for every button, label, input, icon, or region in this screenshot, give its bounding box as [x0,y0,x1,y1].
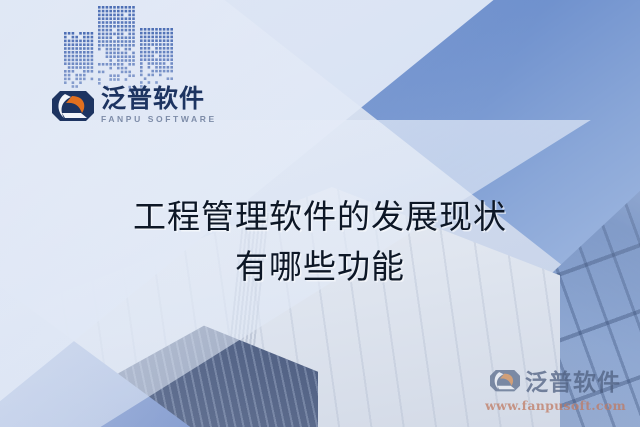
watermark-url: www.fanpusoft.com [485,398,626,413]
brand-name-cn: 泛普软件 [101,86,217,111]
headline-line-1: 工程管理软件的发展现状 [0,192,640,242]
fanpu-logo-mark-icon [490,367,520,393]
headline-line-2: 有哪些功能 [0,242,640,292]
pixel-skyline-icon [62,4,174,92]
watermark-name-cn: 泛普软件 [525,363,621,397]
watermark-logo-row: 泛普软件 [490,363,621,397]
fanpu-logo-mark-icon [52,87,94,123]
headline: 工程管理软件的发展现状 有哪些功能 [0,192,640,292]
brand-lockup: 泛普软件 FANPU SOFTWARE [52,86,217,124]
watermark: 泛普软件 www.fanpusoft.com [485,363,626,413]
brand-name-en: FANPU SOFTWARE [101,115,217,124]
promo-banner: 泛普软件 FANPU SOFTWARE 工程管理软件的发展现状 有哪些功能 泛普… [0,0,640,427]
brand-words: 泛普软件 FANPU SOFTWARE [101,86,217,124]
